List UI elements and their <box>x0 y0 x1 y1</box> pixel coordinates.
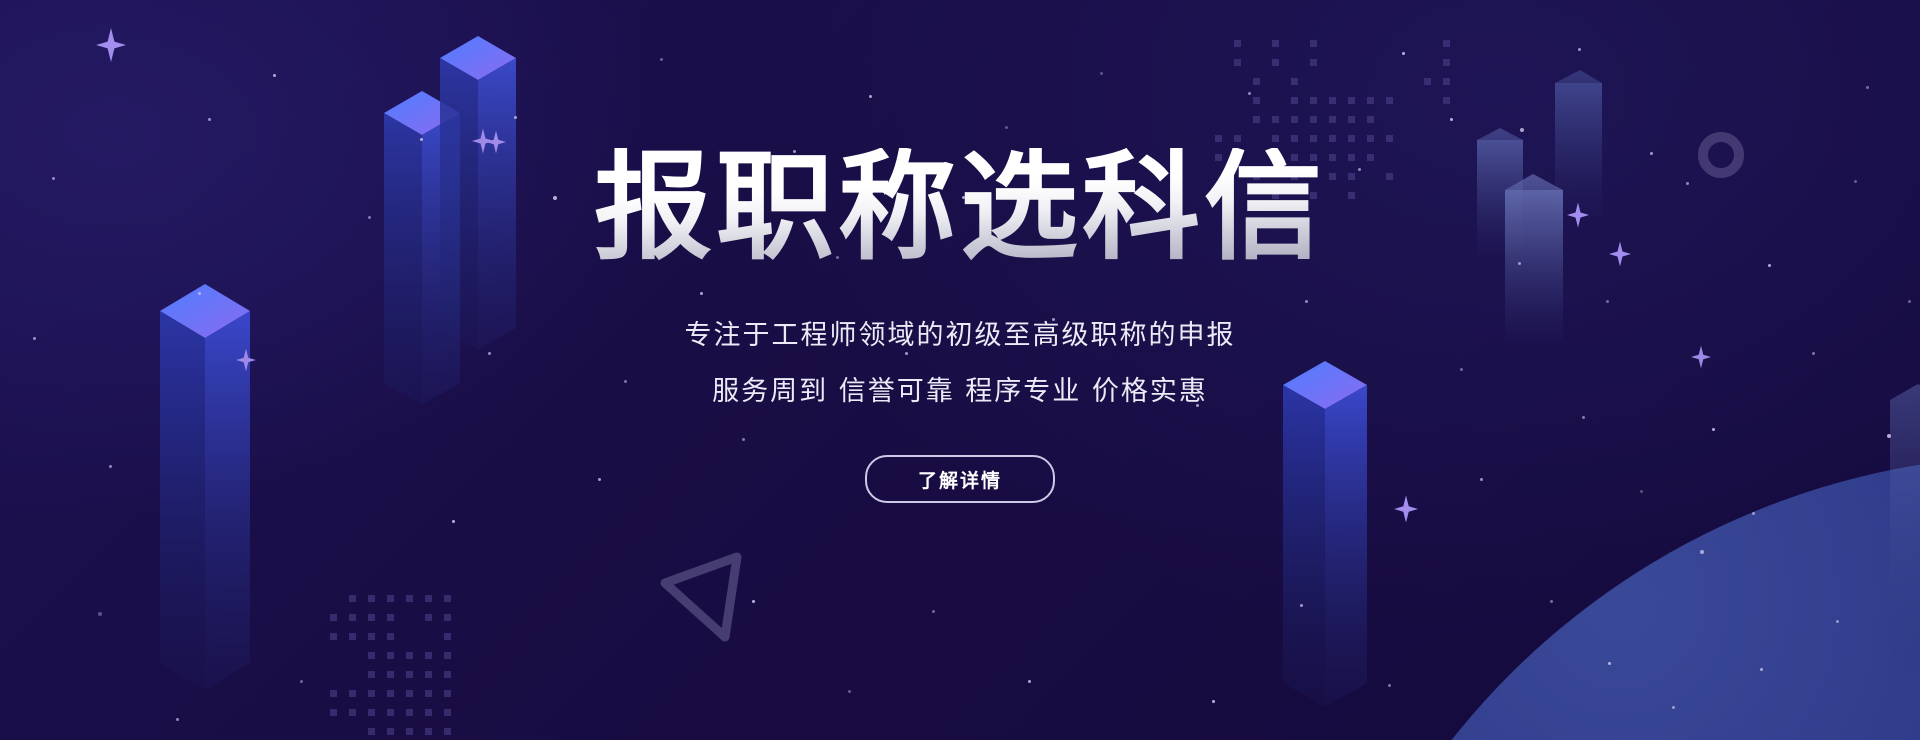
subtitle-line-2: 服务周到 信誉可靠 程序专业 价格实惠 <box>712 378 1208 405</box>
hero-banner: 报职称选科信 专注于工程师领域的初级至高级职称的申报 服务周到 信誉可靠 程序专… <box>0 0 1920 740</box>
subtitle-line-1: 专注于工程师领域的初级至高级职称的申报 <box>685 322 1236 349</box>
banner-content: 报职称选科信 专注于工程师领域的初级至高级职称的申报 服务周到 信誉可靠 程序专… <box>0 0 1920 740</box>
learn-more-button[interactable]: 了解详情 <box>865 455 1055 503</box>
page-title: 报职称选科信 <box>594 148 1326 266</box>
